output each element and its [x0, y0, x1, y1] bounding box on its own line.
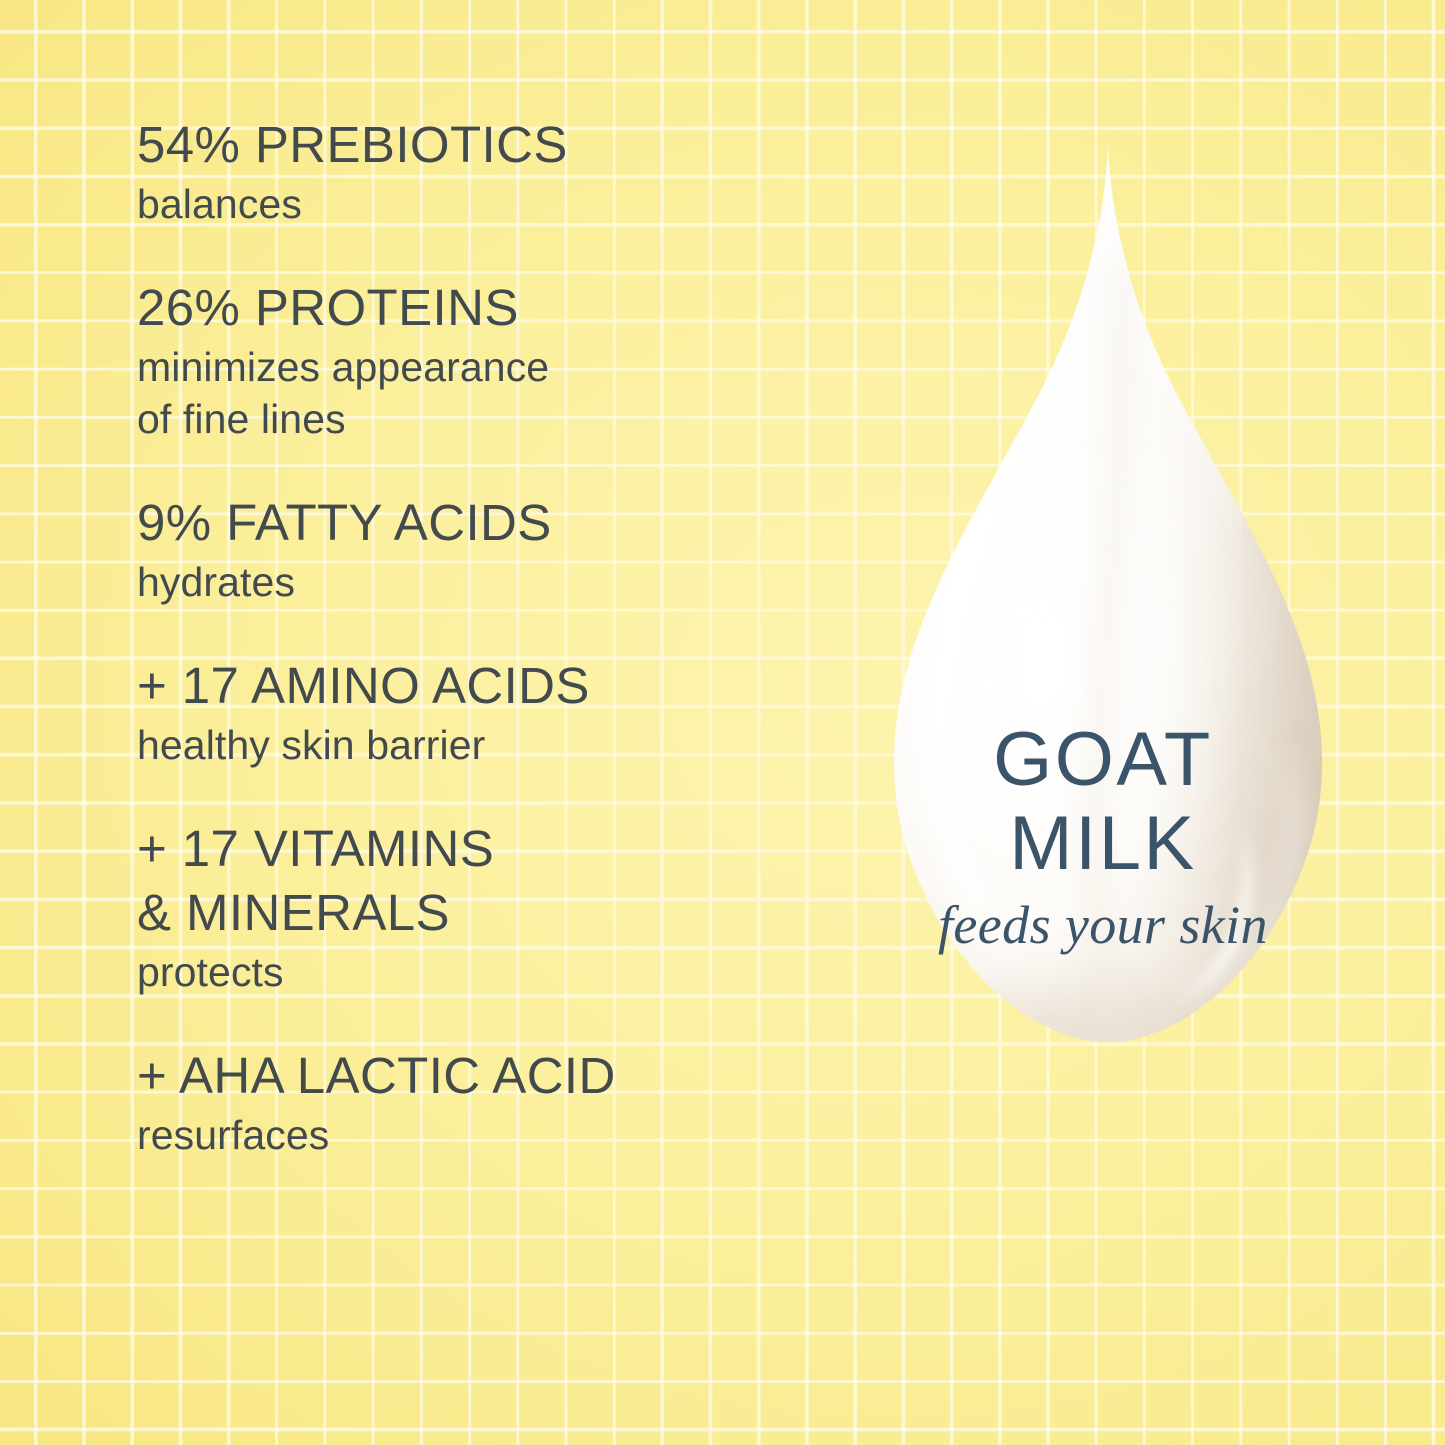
ingredient-benefit: balances	[137, 178, 837, 230]
ingredient-headline: + AHA LACTIC ACID	[137, 1044, 837, 1108]
ingredient-item-proteins: 26% PROTEINS minimizes appearance of fin…	[137, 276, 837, 445]
ingredient-headline: 54% PREBIOTICS	[137, 113, 837, 177]
ingredient-item-amino-acids: + 17 AMINO ACIDS healthy skin barrier	[137, 654, 837, 771]
ingredient-benefit: resurfaces	[137, 1109, 837, 1161]
ingredient-benefit: minimizes appearance of fine lines	[137, 341, 837, 445]
poster-canvas: 54% PREBIOTICS balances 26% PROTEINS min…	[0, 0, 1445, 1445]
ingredient-item-vitamins-minerals: + 17 VITAMINS & MINERALS protects	[137, 817, 837, 998]
ingredient-headline: 26% PROTEINS	[137, 276, 837, 340]
milk-droplet-illustration	[812, 140, 1402, 1170]
ingredient-headline: + 17 AMINO ACIDS	[137, 654, 837, 718]
ingredient-headline: + 17 VITAMINS & MINERALS	[137, 817, 837, 945]
ingredient-item-aha-lactic-acid: + AHA LACTIC ACID resurfaces	[137, 1044, 837, 1161]
ingredient-benefit: hydrates	[137, 556, 837, 608]
ingredient-benefit: healthy skin barrier	[137, 719, 837, 771]
ingredient-item-fatty-acids: 9% FATTY ACIDS hydrates	[137, 491, 837, 608]
ingredient-headline: 9% FATTY ACIDS	[137, 491, 837, 555]
droplet-icon	[812, 140, 1402, 1170]
ingredient-benefit: protects	[137, 946, 837, 998]
ingredient-item-prebiotics: 54% PREBIOTICS balances	[137, 113, 837, 230]
ingredient-list: 54% PREBIOTICS balances 26% PROTEINS min…	[137, 113, 837, 1161]
